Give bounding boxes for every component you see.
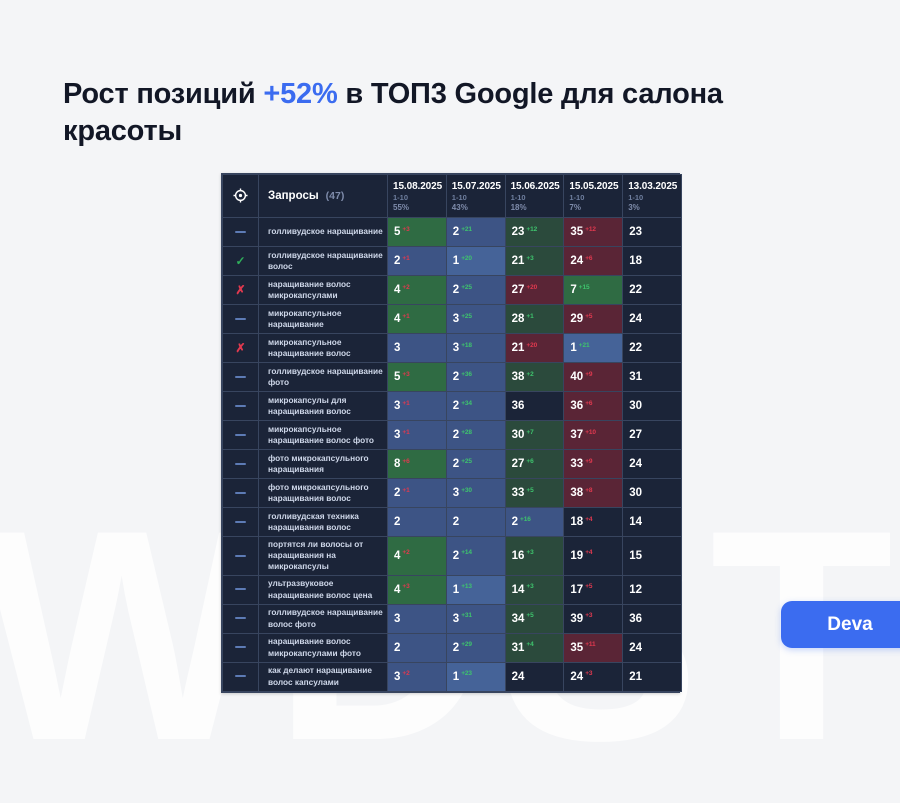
date-range: 1-10 xyxy=(569,194,622,203)
rank-delta: +6 xyxy=(526,458,533,465)
rank-value: 24 xyxy=(570,671,583,683)
rank-value: 3 xyxy=(394,342,400,354)
table-header: Запросы(47) 15.08.2025 1-10 55% 15.07.20… xyxy=(223,175,682,218)
row-status-cell[interactable]: ✓ xyxy=(223,247,259,276)
date-label: 13.03.2025 xyxy=(628,181,681,192)
rank-cell[interactable]: 23 xyxy=(623,218,682,247)
rank-cell[interactable]: 21 xyxy=(623,662,682,691)
rank-value: 2 xyxy=(394,255,400,267)
keyword-cell[interactable]: голливудское наращивание xyxy=(259,218,388,247)
rank-cell[interactable]: 27 xyxy=(623,421,682,450)
rank-cell[interactable]: 3+2 xyxy=(388,662,447,691)
rank-delta: +21 xyxy=(461,226,472,233)
rank-delta: +1 xyxy=(402,313,409,320)
rank-cell[interactable]: 2+29 xyxy=(446,633,505,662)
rank-delta: +5 xyxy=(526,612,533,619)
rank-cell[interactable]: 18+4 xyxy=(564,508,623,537)
keyword-cell[interactable]: микрокапсульное наращивание волос xyxy=(259,334,388,363)
rank-cell[interactable]: 15 xyxy=(623,537,682,576)
rank-value: 28 xyxy=(512,313,525,325)
row-status-cell[interactable] xyxy=(223,218,259,247)
rank-value: 23 xyxy=(512,226,525,238)
rank-cell[interactable]: 1+23 xyxy=(446,662,505,691)
rank-cell[interactable]: 17+5 xyxy=(564,575,623,604)
rank-value: 3 xyxy=(394,400,400,412)
rank-value: 1 xyxy=(453,255,459,267)
rank-cell[interactable]: 3+1 xyxy=(388,392,447,421)
table-row[interactable]: фото микрокапсульного наращивания8+62+25… xyxy=(223,450,682,479)
date-label: 15.06.2025 xyxy=(511,181,564,192)
rank-delta: +2 xyxy=(526,371,533,378)
date-column-header[interactable]: 15.08.2025 1-10 55% xyxy=(388,175,447,218)
rank-value: 14 xyxy=(512,584,525,596)
rank-cell[interactable]: 2+25 xyxy=(446,450,505,479)
table-row[interactable]: голливудская техника наращивания волос22… xyxy=(223,508,682,537)
row-status-cell[interactable]: ✗ xyxy=(223,334,259,363)
rank-value: 4 xyxy=(394,313,400,325)
rank-delta: +6 xyxy=(402,458,409,465)
rank-delta: +25 xyxy=(461,313,472,320)
rank-value: 23 xyxy=(629,226,642,238)
rank-cell[interactable]: 14 xyxy=(623,508,682,537)
date-percent: 7% xyxy=(569,203,622,212)
rank-delta: +3 xyxy=(526,583,533,590)
rank-delta: +3 xyxy=(402,583,409,590)
dash-icon xyxy=(235,318,246,320)
table-row[interactable]: фото микрокапсульного наращивания волос2… xyxy=(223,479,682,508)
date-percent: 3% xyxy=(628,203,681,212)
rank-cell[interactable]: 12 xyxy=(623,575,682,604)
row-status-cell[interactable] xyxy=(223,392,259,421)
rank-delta: +9 xyxy=(585,371,592,378)
dash-icon xyxy=(235,463,246,465)
rank-value: 4 xyxy=(394,584,400,596)
rankings-table-container: Запросы(47) 15.08.2025 1-10 55% 15.07.20… xyxy=(221,173,680,693)
rank-cell[interactable]: 38+8 xyxy=(564,479,623,508)
table-row[interactable]: голливудское наращивание волос фото33+31… xyxy=(223,604,682,633)
rank-value: 34 xyxy=(512,613,525,625)
rank-value: 24 xyxy=(629,458,642,470)
dash-icon xyxy=(235,231,246,233)
table-row[interactable]: микрокапсульное наращивание4+13+2528+129… xyxy=(223,305,682,334)
rank-value: 30 xyxy=(629,400,642,412)
rank-delta: +20 xyxy=(461,255,472,262)
rank-value: 35 xyxy=(570,642,583,654)
date-column-header[interactable]: 15.05.2025 1-10 7% xyxy=(564,175,623,218)
dash-icon xyxy=(235,617,246,619)
table-row[interactable]: ✗наращивание волос микрокапсулами4+22+25… xyxy=(223,276,682,305)
rank-value: 3 xyxy=(394,671,400,683)
rank-cell[interactable]: 38+2 xyxy=(505,363,564,392)
table-header-row: Запросы(47) 15.08.2025 1-10 55% 15.07.20… xyxy=(223,175,682,218)
rank-cell[interactable]: 30 xyxy=(623,479,682,508)
rank-cell[interactable]: 2+25 xyxy=(446,276,505,305)
keyword-cell[interactable]: голливудская техника наращивания волос xyxy=(259,508,388,537)
rank-cell[interactable]: 24 xyxy=(505,662,564,691)
rank-value: 21 xyxy=(629,671,642,683)
page-title-accent: +52% xyxy=(263,78,337,110)
rank-value: 24 xyxy=(629,642,642,654)
rank-cell[interactable]: 35+12 xyxy=(564,218,623,247)
rank-cell[interactable]: 23+12 xyxy=(505,218,564,247)
rank-delta: +5 xyxy=(585,583,592,590)
rank-value: 7 xyxy=(570,284,576,296)
row-status-cell[interactable] xyxy=(223,604,259,633)
rank-delta: +3 xyxy=(585,612,592,619)
rank-value: 5 xyxy=(394,371,400,383)
keyword-cell[interactable]: микрокапсульное наращивание волос фото xyxy=(259,421,388,450)
rank-value: 24 xyxy=(629,313,642,325)
rank-delta: +1 xyxy=(402,487,409,494)
rank-delta: +3 xyxy=(526,549,533,556)
rank-value: 2 xyxy=(394,516,400,528)
rank-delta: +25 xyxy=(461,284,472,291)
rank-value: 31 xyxy=(512,642,525,654)
rank-value: 1 xyxy=(570,342,576,354)
rank-cell[interactable]: 2 xyxy=(388,633,447,662)
keyword-cell[interactable]: наращивание волос микрокапсулами xyxy=(259,276,388,305)
rank-delta: +29 xyxy=(461,641,472,648)
rankings-table: Запросы(47) 15.08.2025 1-10 55% 15.07.20… xyxy=(222,174,682,692)
rank-cell[interactable]: 36+6 xyxy=(564,392,623,421)
rank-cell[interactable]: 7+15 xyxy=(564,276,623,305)
rank-cell[interactable]: 2+34 xyxy=(446,392,505,421)
rank-cell[interactable]: 1+21 xyxy=(564,334,623,363)
date-label: 15.08.2025 xyxy=(393,181,446,192)
row-status-cell[interactable] xyxy=(223,421,259,450)
rank-value: 1 xyxy=(453,584,459,596)
rank-cell[interactable]: 33+9 xyxy=(564,450,623,479)
rank-cell[interactable]: 8+6 xyxy=(388,450,447,479)
dash-icon xyxy=(235,555,246,557)
date-range: 1-10 xyxy=(452,194,505,203)
rank-value: 3 xyxy=(453,313,459,325)
rank-cell[interactable]: 31 xyxy=(623,363,682,392)
rank-cell[interactable]: 2+1 xyxy=(388,479,447,508)
rank-delta: +25 xyxy=(461,458,472,465)
rank-value: 3 xyxy=(394,429,400,441)
rank-value: 14 xyxy=(629,516,642,528)
rank-delta: +21 xyxy=(579,342,590,349)
rank-delta: +15 xyxy=(579,284,590,291)
rank-cell[interactable]: 3 xyxy=(388,334,447,363)
rank-value: 2 xyxy=(453,516,459,528)
rank-cell[interactable]: 24 xyxy=(623,450,682,479)
rank-cell[interactable]: 24 xyxy=(623,305,682,334)
keyword-cell[interactable]: фото микрокапсульного наращивания волос xyxy=(259,479,388,508)
table-row[interactable]: голливудское наращивание5+32+2123+1235+1… xyxy=(223,218,682,247)
rank-cell[interactable]: 19+4 xyxy=(564,537,623,576)
rank-delta: +1 xyxy=(402,429,409,436)
rank-value: 30 xyxy=(512,429,525,441)
rank-cell[interactable]: 2 xyxy=(446,508,505,537)
rank-cell[interactable]: 5+3 xyxy=(388,218,447,247)
rank-value: 2 xyxy=(453,550,459,562)
rank-cell[interactable]: 37+10 xyxy=(564,421,623,450)
rank-delta: +2 xyxy=(402,549,409,556)
rank-value: 33 xyxy=(570,458,583,470)
keyword-cell[interactable]: наращивание волос микрокапсулами фото xyxy=(259,633,388,662)
rank-cell[interactable]: 21+3 xyxy=(505,247,564,276)
rank-value: 2 xyxy=(512,516,518,528)
rank-cell[interactable]: 2+36 xyxy=(446,363,505,392)
rank-cell[interactable]: 3+1 xyxy=(388,421,447,450)
keyword-cell[interactable]: фото микрокапсульного наращивания xyxy=(259,450,388,479)
rank-cell[interactable]: 22 xyxy=(623,276,682,305)
rank-cell[interactable]: 3+25 xyxy=(446,305,505,334)
rank-cell[interactable]: 34+5 xyxy=(505,604,564,633)
rank-delta: +3 xyxy=(585,670,592,677)
rank-value: 16 xyxy=(512,550,525,562)
dash-icon xyxy=(235,588,246,590)
rank-value: 33 xyxy=(512,487,525,499)
rank-delta: +4 xyxy=(585,516,592,523)
rank-delta: +12 xyxy=(585,226,596,233)
rank-delta: +12 xyxy=(526,226,537,233)
rank-delta: +20 xyxy=(526,284,537,291)
rank-cell[interactable]: 35+11 xyxy=(564,633,623,662)
date-label: 15.07.2025 xyxy=(452,181,505,192)
rank-value: 2 xyxy=(453,400,459,412)
rank-cell[interactable]: 22 xyxy=(623,334,682,363)
rank-cell[interactable]: 4+3 xyxy=(388,575,447,604)
rank-delta: +13 xyxy=(461,583,472,590)
dash-icon xyxy=(235,405,246,407)
rank-cell[interactable]: 18 xyxy=(623,247,682,276)
rank-value: 24 xyxy=(570,255,583,267)
row-status-cell[interactable] xyxy=(223,363,259,392)
rank-value: 30 xyxy=(629,487,642,499)
rank-value: 2 xyxy=(453,458,459,470)
dash-icon xyxy=(235,521,246,523)
keyword-cell[interactable]: микрокапсульное наращивание xyxy=(259,305,388,334)
cross-icon: ✗ xyxy=(235,341,245,355)
rank-delta: +31 xyxy=(461,612,472,619)
dash-icon xyxy=(235,492,246,494)
keyword-count: (47) xyxy=(326,190,345,202)
rank-value: 39 xyxy=(570,613,583,625)
rank-value: 4 xyxy=(394,284,400,296)
rank-value: 2 xyxy=(394,642,400,654)
date-percent: 18% xyxy=(511,203,564,212)
rank-cell[interactable]: 4+2 xyxy=(388,276,447,305)
rank-delta: +34 xyxy=(461,400,472,407)
rank-cell[interactable]: 1+13 xyxy=(446,575,505,604)
rank-cell[interactable]: 5+3 xyxy=(388,363,447,392)
cross-icon: ✗ xyxy=(235,283,245,297)
table-row[interactable]: ✓голливудское наращивание волос2+11+2021… xyxy=(223,247,682,276)
rank-delta: +9 xyxy=(585,458,592,465)
rank-cell[interactable]: 33+5 xyxy=(505,479,564,508)
rank-cell[interactable]: 36 xyxy=(623,604,682,633)
page-title-before: Рост позиций xyxy=(63,78,263,110)
rank-value: 24 xyxy=(512,671,525,683)
rank-cell[interactable]: 2 xyxy=(388,508,447,537)
table-row[interactable]: ультразвуковое наращивание волос цена4+3… xyxy=(223,575,682,604)
target-icon-header-cell[interactable] xyxy=(223,175,259,218)
rank-cell[interactable]: 27+20 xyxy=(505,276,564,305)
rank-value: 2 xyxy=(453,429,459,441)
rank-cell[interactable]: 2+28 xyxy=(446,421,505,450)
rank-value: 36 xyxy=(629,613,642,625)
table-row[interactable]: ✗микрокапсульное наращивание волос33+182… xyxy=(223,334,682,363)
row-status-cell[interactable] xyxy=(223,633,259,662)
keyword-cell[interactable]: голливудское наращивание фото xyxy=(259,363,388,392)
date-label: 15.05.2025 xyxy=(569,181,622,192)
rank-cell[interactable]: 1+20 xyxy=(446,247,505,276)
table-row[interactable]: портятся ли волосы от наращивания на мик… xyxy=(223,537,682,576)
table-row[interactable]: наращивание волос микрокапсулами фото22+… xyxy=(223,633,682,662)
rank-cell[interactable]: 24+6 xyxy=(564,247,623,276)
rank-value: 8 xyxy=(394,458,400,470)
keyword-cell[interactable]: портятся ли волосы от наращивания на мик… xyxy=(259,537,388,576)
rank-delta: +8 xyxy=(585,487,592,494)
date-range: 1-10 xyxy=(511,194,564,203)
dash-icon xyxy=(235,376,246,378)
keyword-cell[interactable]: голливудское наращивание волос фото xyxy=(259,604,388,633)
rank-value: 31 xyxy=(629,371,642,383)
rank-delta: +1 xyxy=(402,400,409,407)
date-percent: 55% xyxy=(393,203,446,212)
rank-delta: +28 xyxy=(461,429,472,436)
row-status-cell[interactable] xyxy=(223,662,259,691)
rank-cell[interactable]: 2+14 xyxy=(446,537,505,576)
check-icon: ✓ xyxy=(235,254,245,268)
rank-delta: +11 xyxy=(585,641,595,648)
rank-value: 5 xyxy=(394,226,400,238)
row-status-cell[interactable] xyxy=(223,479,259,508)
rank-value: 2 xyxy=(394,487,400,499)
rank-cell[interactable]: 39+3 xyxy=(564,604,623,633)
row-status-cell[interactable] xyxy=(223,305,259,334)
rank-value: 2 xyxy=(453,371,459,383)
rank-cell[interactable]: 24 xyxy=(623,633,682,662)
rank-cell[interactable]: 3+18 xyxy=(446,334,505,363)
rank-delta: +1 xyxy=(526,313,533,320)
rank-value: 3 xyxy=(394,613,400,625)
rank-cell[interactable]: 14+3 xyxy=(505,575,564,604)
rank-value: 35 xyxy=(570,226,583,238)
table-row[interactable]: микрокапсулы для наращивания волос3+12+3… xyxy=(223,392,682,421)
table-row[interactable]: микрокапсульное наращивание волос фото3+… xyxy=(223,421,682,450)
rank-cell[interactable]: 29+5 xyxy=(564,305,623,334)
rank-cell[interactable]: 28+1 xyxy=(505,305,564,334)
rank-delta: +2 xyxy=(402,670,409,677)
rank-value: 36 xyxy=(570,400,583,412)
rank-delta: +20 xyxy=(526,342,537,349)
rank-value: 15 xyxy=(629,550,642,562)
table-row[interactable]: как делают наращивание волос капсулами3+… xyxy=(223,662,682,691)
date-percent: 43% xyxy=(452,203,505,212)
rank-delta: +16 xyxy=(520,516,531,523)
rank-delta: +6 xyxy=(585,400,592,407)
date-column-header[interactable]: 13.03.2025 1-10 3% xyxy=(623,175,682,218)
rank-value: 2 xyxy=(453,642,459,654)
rank-cell[interactable]: 3+31 xyxy=(446,604,505,633)
rank-cell[interactable]: 21+20 xyxy=(505,334,564,363)
rank-cell[interactable]: 2+16 xyxy=(505,508,564,537)
rank-value: 2 xyxy=(453,226,459,238)
row-status-cell[interactable] xyxy=(223,575,259,604)
rank-value: 18 xyxy=(570,516,583,528)
rank-delta: +4 xyxy=(526,641,533,648)
rank-value: 38 xyxy=(570,487,583,499)
rank-delta: +3 xyxy=(526,255,533,262)
rank-cell[interactable]: 40+9 xyxy=(564,363,623,392)
keyword-cell[interactable]: ультразвуковое наращивание волос цена xyxy=(259,575,388,604)
rank-delta: +7 xyxy=(526,429,533,436)
rank-value: 40 xyxy=(570,371,583,383)
keyword-cell[interactable]: голливудское наращивание волос xyxy=(259,247,388,276)
rank-value: 27 xyxy=(512,284,525,296)
rank-delta: +4 xyxy=(585,549,592,556)
rank-cell[interactable]: 30 xyxy=(623,392,682,421)
rank-value: 3 xyxy=(453,487,459,499)
deva-brand-button[interactable]: Deva xyxy=(781,601,900,648)
rank-value: 22 xyxy=(629,342,642,354)
keyword-column-header[interactable]: Запросы(47) xyxy=(259,175,388,218)
rank-value: 17 xyxy=(570,584,583,596)
rank-delta: +14 xyxy=(461,549,472,556)
rank-value: 37 xyxy=(570,429,583,441)
rank-value: 19 xyxy=(570,550,583,562)
rank-value: 2 xyxy=(453,284,459,296)
rank-cell[interactable]: 4+1 xyxy=(388,305,447,334)
rank-cell[interactable]: 30+7 xyxy=(505,421,564,450)
table-body: голливудское наращивание5+32+2123+1235+1… xyxy=(223,218,682,692)
rank-cell[interactable]: 2+1 xyxy=(388,247,447,276)
rank-value: 18 xyxy=(629,255,642,267)
rank-cell[interactable]: 4+2 xyxy=(388,537,447,576)
rank-delta: +36 xyxy=(461,371,472,378)
row-status-cell[interactable] xyxy=(223,508,259,537)
rank-delta: +23 xyxy=(461,670,472,677)
rank-cell[interactable]: 16+3 xyxy=(505,537,564,576)
rank-value: 3 xyxy=(453,342,459,354)
rank-value: 12 xyxy=(629,584,642,596)
rank-delta: +2 xyxy=(402,284,409,291)
rank-value: 4 xyxy=(394,550,400,562)
rank-value: 21 xyxy=(512,255,525,267)
keyword-cell[interactable]: микрокапсулы для наращивания волос xyxy=(259,392,388,421)
date-column-header[interactable]: 15.06.2025 1-10 18% xyxy=(505,175,564,218)
rank-value: 38 xyxy=(512,371,525,383)
rank-value: 22 xyxy=(629,284,642,296)
row-status-cell[interactable] xyxy=(223,450,259,479)
rank-cell[interactable]: 31+4 xyxy=(505,633,564,662)
rank-cell[interactable]: 3+30 xyxy=(446,479,505,508)
rank-value: 3 xyxy=(453,613,459,625)
rank-delta: +18 xyxy=(461,342,472,349)
row-status-cell[interactable]: ✗ xyxy=(223,276,259,305)
rank-cell[interactable]: 27+6 xyxy=(505,450,564,479)
rank-delta: +30 xyxy=(461,487,472,494)
rank-delta: +1 xyxy=(402,255,409,262)
keyword-cell[interactable]: как делают наращивание волос капсулами xyxy=(259,662,388,691)
rank-cell[interactable]: 36 xyxy=(505,392,564,421)
rank-delta: +3 xyxy=(402,371,409,378)
rank-cell[interactable]: 2+21 xyxy=(446,218,505,247)
rank-delta: +5 xyxy=(585,313,592,320)
date-range: 1-10 xyxy=(628,194,681,203)
rank-cell[interactable]: 24+3 xyxy=(564,662,623,691)
row-status-cell[interactable] xyxy=(223,537,259,576)
rank-cell[interactable]: 3 xyxy=(388,604,447,633)
dash-icon xyxy=(235,646,246,648)
date-column-header[interactable]: 15.07.2025 1-10 43% xyxy=(446,175,505,218)
rank-value: 36 xyxy=(512,400,525,412)
table-row[interactable]: голливудское наращивание фото5+32+3638+2… xyxy=(223,363,682,392)
